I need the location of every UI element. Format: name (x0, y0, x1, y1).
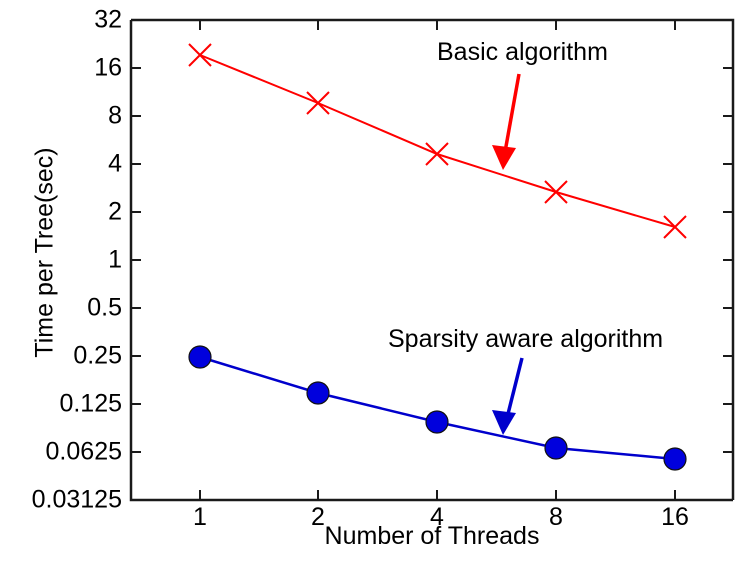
y-tick-label-0-0625: 0.0625 (10, 440, 122, 465)
y-tick-label-16: 16 (10, 56, 122, 81)
x-axis-title: Number of Threads (131, 524, 733, 549)
y-tick-label-0-125: 0.125 (10, 392, 122, 417)
y-axis-ticks (131, 20, 141, 500)
series-basic-algorithm (189, 44, 686, 238)
x-axis-ticks-top (200, 20, 675, 30)
series-sparsity-markers (189, 346, 686, 470)
y-tick-label-32: 32 (10, 8, 122, 33)
annotation-arrow-basic (492, 74, 519, 170)
y-tick-label-2: 2 (10, 200, 122, 225)
y-tick-label-0-03125: 0.03125 (6, 488, 122, 513)
y-tick-label-8: 8 (10, 104, 122, 129)
y-tick-label-0-25: 0.25 (10, 344, 122, 369)
series-sparsity-aware-algorithm (189, 346, 686, 470)
y-tick-label-1: 1 (10, 248, 122, 273)
y-tick-label-0-5: 0.5 (10, 296, 122, 321)
annotation-arrow-sparsity (492, 358, 522, 435)
y-axis-ticks-right (723, 68, 733, 452)
series-sparsity-line (200, 357, 675, 459)
x-axis-ticks (200, 490, 675, 500)
annotation-label-basic-algorithm: Basic algorithm (437, 40, 608, 65)
chart-figure: 32 16 8 4 2 1 0.5 0.25 0.125 0.0625 0.03… (0, 0, 755, 561)
plot-canvas (0, 0, 755, 561)
y-tick-label-4: 4 (10, 152, 122, 177)
series-basic-line (200, 55, 675, 227)
y-axis-title: Time per Tree(sec) (33, 88, 58, 418)
annotation-label-sparsity-aware-algorithm: Sparsity aware algorithm (388, 327, 663, 352)
